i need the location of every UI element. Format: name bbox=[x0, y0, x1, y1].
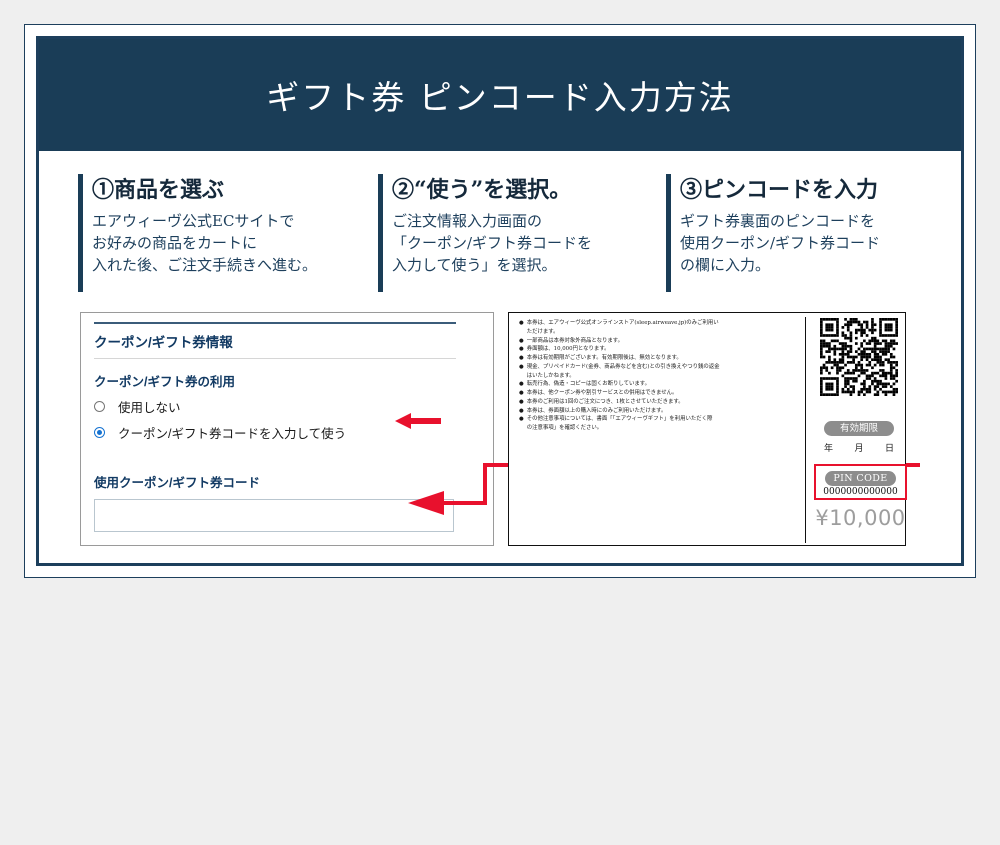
term-item: ●ただけます。 bbox=[519, 328, 797, 337]
step-3: ③ピンコードを入力 ギフト券裏面のピンコードを 使用クーポン/ギフト券コード の… bbox=[666, 172, 944, 300]
expiry-year-unit: 年 bbox=[824, 441, 833, 454]
step-1-line-1: エアウィーヴ公式ECサイトで bbox=[92, 211, 378, 233]
term-item: ●転売行為、偽造・コピーは固くお断りしています。 bbox=[519, 380, 797, 389]
coupon-code-input[interactable] bbox=[94, 499, 454, 532]
term-item: ●本券は有効期限がございます。有効期限後は、無効となります。 bbox=[519, 354, 797, 363]
term-item: ●本券は、エアウィーヴ公式オンラインストア(sleep.airweave.jp)… bbox=[519, 319, 797, 328]
step-2-line-2: 「クーポン/ギフト券コードを bbox=[392, 233, 666, 255]
form-divider bbox=[94, 358, 456, 359]
card-price: ¥10,000 bbox=[808, 506, 913, 530]
radio-option-use-code-label: クーポン/ギフト券コードを入力して使う bbox=[118, 423, 346, 442]
term-item: ●はいたしかねます。 bbox=[519, 372, 797, 381]
step-3-title: ③ピンコードを入力 bbox=[680, 172, 944, 204]
term-item: ●本券のご利用は1回のご注文につき、1枚とさせていただきます。 bbox=[519, 398, 797, 407]
bullet-icon: ● bbox=[519, 363, 524, 372]
page-title: ギフト券 ピンコード入力方法 bbox=[266, 71, 734, 119]
steps-row: ①商品を選ぶ エアウィーヴ公式ECサイトで お好みの商品をカートに 入れた後、ご… bbox=[78, 172, 944, 300]
step-1-line-2: お好みの商品をカートに bbox=[92, 233, 378, 255]
pin-code-value: 0000000000000 bbox=[814, 487, 907, 497]
header-banner: ギフト券 ピンコード入力方法 bbox=[39, 39, 961, 151]
gift-card-terms: ●本券は、エアウィーヴ公式オンラインストア(sleep.airweave.jp)… bbox=[519, 319, 797, 433]
radio-group-label: クーポン/ギフト券の利用 bbox=[94, 371, 472, 390]
bullet-icon: ● bbox=[519, 319, 524, 328]
step-2-body: ご注文情報入力画面の 「クーポン/ギフト券コードを 入力して使う」を選択。 bbox=[392, 211, 666, 276]
term-item: ●本券は、他クーポン券や割引サービスとの併用はできません。 bbox=[519, 389, 797, 398]
expiry-fields: 年 月 日 bbox=[824, 441, 894, 454]
step-1: ①商品を選ぶ エアウィーヴ公式ECサイトで お好みの商品をカートに 入れた後、ご… bbox=[78, 172, 378, 300]
step-3-line-2: 使用クーポン/ギフト券コード bbox=[680, 233, 944, 255]
expiry-month-unit: 月 bbox=[854, 441, 863, 454]
bullet-icon: ● bbox=[519, 389, 524, 398]
bullet-icon: ● bbox=[519, 345, 524, 354]
step-3-line-3: の欄に入力。 bbox=[680, 255, 944, 277]
red-arrow-to-radio-icon bbox=[395, 412, 441, 430]
radio-icon-checked[interactable] bbox=[94, 427, 105, 438]
form-heading: クーポン/ギフト券情報 bbox=[94, 324, 472, 358]
term-item: ●本券は、券面額以上の購入時にのみご利用いただけます。 bbox=[519, 407, 797, 416]
step-2-line-3: 入力して使う」を選択。 bbox=[392, 255, 666, 277]
step-1-body: エアウィーヴ公式ECサイトで お好みの商品をカートに 入れた後、ご注文手続きへ進… bbox=[92, 211, 378, 276]
bullet-icon: ● bbox=[519, 337, 524, 346]
radio-icon-unchecked[interactable] bbox=[94, 401, 105, 412]
step-3-body: ギフト券裏面のピンコードを 使用クーポン/ギフト券コード の欄に入力。 bbox=[680, 211, 944, 276]
term-item: ●現金、プリペイドカード(金券、商品券などを含む)との引き換えやつり銭の返金 bbox=[519, 363, 797, 372]
step-1-line-3: 入れた後、ご注文手続きへ進む。 bbox=[92, 255, 378, 277]
term-item: ●券面額は、10,000円となります。 bbox=[519, 345, 797, 354]
expiry-label: 有効期限 bbox=[824, 421, 894, 436]
term-item: ●一部商品は本券対象外商品となります。 bbox=[519, 337, 797, 346]
step-2-title: ②“使う”を選択。 bbox=[392, 172, 666, 204]
step-3-line-1: ギフト券裏面のピンコードを bbox=[680, 211, 944, 233]
term-item: ●の注意事項」を確認ください。 bbox=[519, 424, 797, 433]
bullet-icon: ● bbox=[519, 407, 524, 416]
radio-option-no-use-label: 使用しない bbox=[118, 397, 181, 416]
infographic-page: ギフト券 ピンコード入力方法 ①商品を選ぶ エアウィーヴ公式ECサイトで お好み… bbox=[0, 0, 1000, 621]
code-field-label: 使用クーポン/ギフト券コード bbox=[94, 472, 472, 491]
bullet-icon: ● bbox=[519, 398, 524, 407]
bullet-icon: ● bbox=[519, 415, 524, 424]
expiry-day-unit: 日 bbox=[885, 441, 894, 454]
pin-code-label: PIN CODE bbox=[825, 471, 896, 486]
qr-code-icon bbox=[820, 318, 898, 396]
step-2-line-1: ご注文情報入力画面の bbox=[392, 211, 666, 233]
card-vertical-divider bbox=[805, 317, 806, 543]
bullet-icon: ● bbox=[519, 354, 524, 363]
term-item: ●その他注意事項については、書面「「エアウィーヴギフト」を利用いただく際 bbox=[519, 415, 797, 424]
step-2: ②“使う”を選択。 ご注文情報入力画面の 「クーポン/ギフト券コードを 入力して… bbox=[378, 172, 666, 300]
step-1-title: ①商品を選ぶ bbox=[92, 172, 378, 204]
bullet-icon: ● bbox=[519, 380, 524, 389]
